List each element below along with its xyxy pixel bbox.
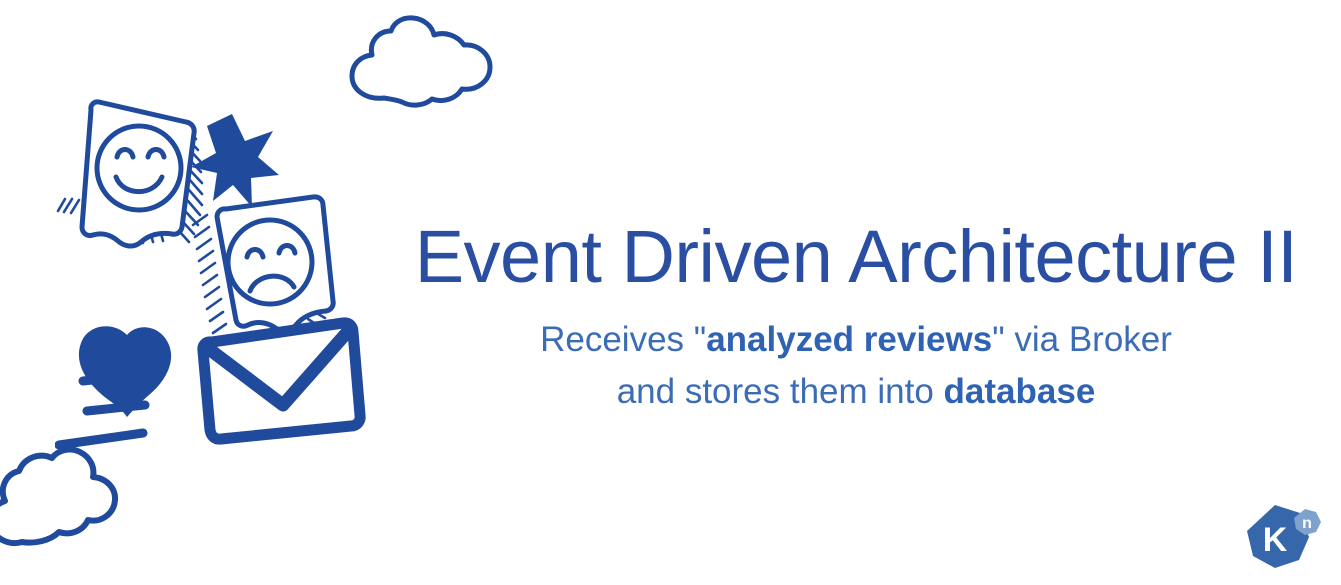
subtitle-line-1-emphasis: analyzed reviews (706, 320, 992, 359)
logo-letter-k: K (1263, 521, 1288, 559)
page-title: Event Driven Architecture II (380, 218, 1332, 296)
logo-letter-n: n (1302, 515, 1312, 532)
subtitle-line-1: Receives "analyzed reviews" via Broker (380, 314, 1332, 366)
subtitle-line-2: and stores them into database (380, 366, 1332, 418)
star-icon (191, 114, 279, 207)
slide-text-block: Event Driven Architecture II Receives "a… (380, 218, 1332, 418)
happy-face-card-icon (58, 102, 202, 246)
subtitle-line-1-suffix: " via Broker (992, 320, 1172, 359)
page-subtitle: Receives "analyzed reviews" via Broker a… (380, 314, 1332, 418)
subtitle-line-1-prefix: Receives " (540, 320, 706, 359)
subtitle-line-2-emphasis: database (944, 372, 1096, 411)
feedback-illustration (55, 95, 370, 460)
envelope-icon (203, 323, 360, 439)
subtitle-line-2-prefix: and stores them into (617, 372, 944, 411)
kn-logo[interactable]: K n (1239, 501, 1325, 577)
slide-canvas: Event Driven Architecture II Receives "a… (0, 0, 1341, 585)
